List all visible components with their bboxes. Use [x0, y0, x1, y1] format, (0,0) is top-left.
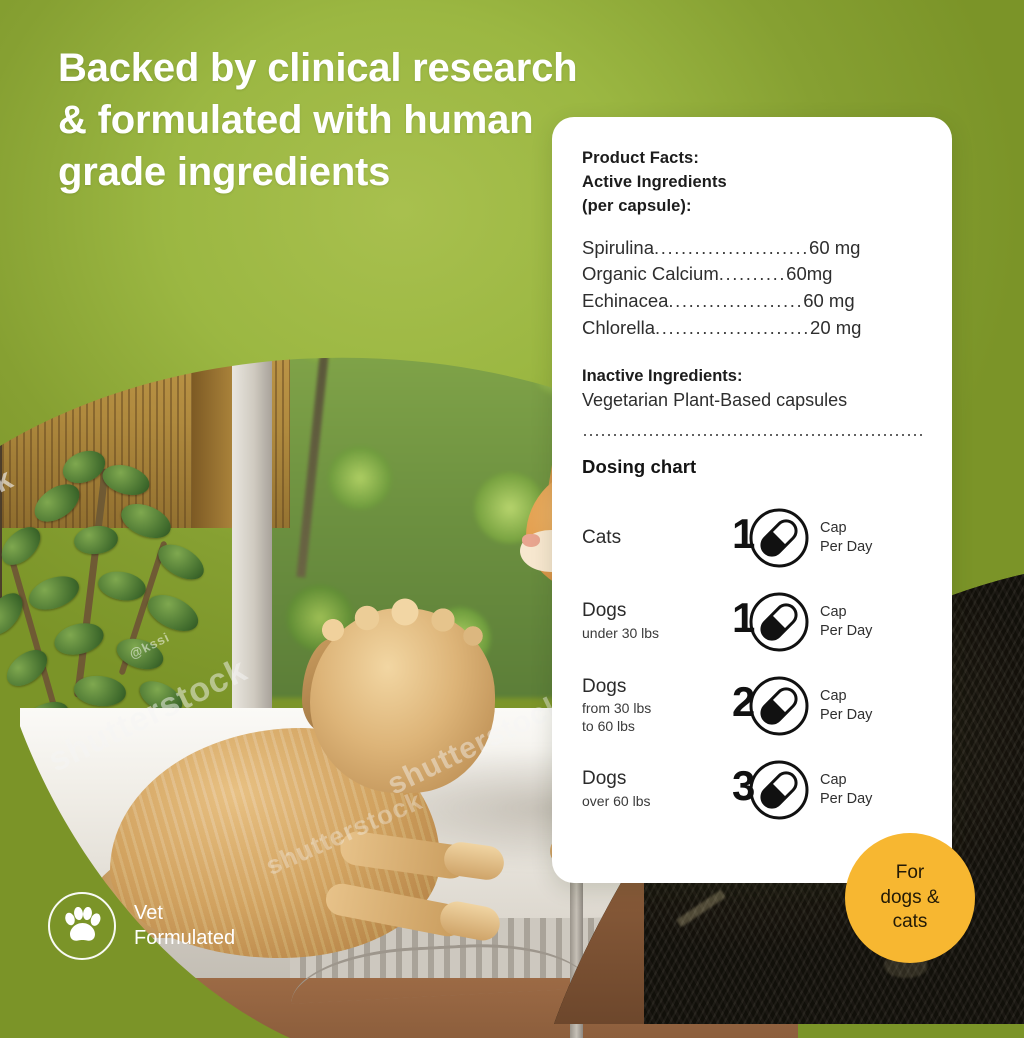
dosing-weight: under 30 lbs	[582, 625, 732, 643]
dose-capsule-icon: 3	[732, 758, 814, 822]
dosing-row: Dogs under 30 lbs 1 Cap Per Day	[582, 580, 924, 664]
dose-unit: Cap Per Day	[820, 603, 872, 641]
dosing-weight: from 30 lbs to 60 lbs	[582, 700, 732, 736]
ingredient-dots: ....................	[668, 288, 803, 315]
dosing-label: Cats	[582, 528, 732, 549]
dosing-label: Dogs under 30 lbs	[582, 601, 732, 643]
dog-head-fluff	[315, 594, 490, 664]
ingredient-row: Organic Calcium .......... 60mg	[582, 261, 924, 288]
product-facts-line-3: (per capsule):	[582, 195, 924, 219]
dose-capsule-icon: 1	[732, 590, 814, 654]
audience-line-3: cats	[880, 910, 939, 935]
inactive-ingredients: Inactive Ingredients: Vegetarian Plant-B…	[582, 367, 924, 412]
dosing-row: Cats 1 Cap Per Day	[582, 496, 924, 580]
dosing-animal: Cats	[582, 528, 732, 549]
ingredient-amount: 60 mg	[803, 288, 854, 315]
product-facts-card: Product Facts: Active Ingredients (per c…	[552, 117, 952, 883]
dose-unit-line-2: Per Day	[820, 790, 872, 809]
ingredient-row: Spirulina ....................... 60 mg	[582, 235, 924, 262]
headline-rest: & formulated with human grade ingredient…	[58, 98, 533, 194]
dose-unit-line-1: Cap	[820, 687, 872, 706]
capsule-in-circle-icon	[746, 674, 812, 738]
vet-text-line-2: Formulated	[134, 926, 235, 951]
capsule-in-circle-icon	[746, 590, 812, 654]
audience-badge-text: For dogs & cats	[880, 861, 939, 935]
paw-print-icon	[62, 907, 102, 945]
dose-count: 1	[732, 597, 754, 639]
vet-formulated-badge: Vet Formulated	[48, 892, 235, 960]
dosing-chart-rows: Cats 1 Cap Per Day	[582, 496, 924, 832]
dose-unit: Cap Per Day	[820, 519, 872, 557]
page-title: Backed by clinical research & formulated…	[58, 42, 578, 198]
ingredient-name: Spirulina	[582, 235, 654, 262]
dose-unit-line-1: Cap	[820, 771, 872, 790]
dose-unit-line-1: Cap	[820, 519, 872, 538]
ingredient-name: Chlorella	[582, 315, 655, 342]
audience-line-2: dogs &	[880, 886, 939, 911]
dose-unit-line-2: Per Day	[820, 622, 872, 641]
paw-icon-circle	[48, 892, 116, 960]
headline-bold: Backed by clinical research	[58, 46, 577, 90]
dose-capsule-icon: 1	[732, 506, 814, 570]
capsule-in-circle-icon	[746, 758, 812, 822]
ingredient-amount: 60mg	[786, 261, 832, 288]
dose-unit-line-1: Cap	[820, 603, 872, 622]
dosing-animal: Dogs	[582, 601, 732, 622]
capsule-in-circle-icon	[746, 506, 812, 570]
inactive-ingredients-body: Vegetarian Plant-Based capsules	[582, 388, 924, 412]
ingredient-dots: .......................	[654, 235, 809, 262]
dosing-animal: Dogs	[582, 769, 732, 790]
dose-capsule-icon: 2	[732, 674, 814, 738]
ingredient-row: Echinacea .................... 60 mg	[582, 288, 924, 315]
ingredient-dots: .......................	[655, 315, 810, 342]
audience-line-1: For	[880, 861, 939, 886]
dose-unit-line-2: Per Day	[820, 538, 872, 557]
ingredient-name: Organic Calcium	[582, 261, 719, 288]
cat-nose	[522, 534, 540, 547]
dosing-label: Dogs from 30 lbs to 60 lbs	[582, 677, 732, 737]
product-facts-line-2: Active Ingredients	[582, 171, 924, 195]
ingredient-amount: 60 mg	[809, 235, 860, 262]
vet-text-line-1: Vet	[134, 901, 235, 926]
dosing-row: Dogs over 60 lbs 3 Cap Per Day	[582, 748, 924, 832]
dose-unit-line-2: Per Day	[820, 706, 872, 725]
audience-badge: For dogs & cats	[845, 833, 975, 963]
dosing-row: Dogs from 30 lbs to 60 lbs 2	[582, 664, 924, 748]
dose-unit: Cap Per Day	[820, 687, 872, 725]
dosing-weight-line-1: from 30 lbs	[582, 700, 732, 718]
ingredient-name: Echinacea	[582, 288, 668, 315]
ingredient-dots: ..........	[719, 261, 786, 288]
dose-unit: Cap Per Day	[820, 771, 872, 809]
vet-formulated-text: Vet Formulated	[134, 901, 235, 951]
dosing-weight-line-2: to 60 lbs	[582, 718, 732, 736]
dose-count: 2	[732, 681, 754, 723]
product-facts-heading: Product Facts: Active Ingredients (per c…	[582, 147, 924, 219]
dotted-divider	[582, 434, 924, 436]
product-facts-line-1: Product Facts:	[582, 147, 924, 171]
dose-count: 3	[732, 765, 754, 807]
ingredient-amount: 20 mg	[810, 315, 861, 342]
ingredient-row: Chlorella ....................... 20 mg	[582, 315, 924, 342]
dosing-weight: over 60 lbs	[582, 793, 732, 811]
dosing-chart-title: Dosing chart	[582, 456, 924, 478]
dose-count: 1	[732, 513, 754, 555]
inactive-ingredients-heading: Inactive Ingredients:	[582, 367, 924, 386]
active-ingredients-list: Spirulina ....................... 60 mg …	[582, 235, 924, 342]
dog-paw-2	[437, 899, 502, 944]
dosing-animal: Dogs	[582, 677, 732, 698]
dosing-label: Dogs over 60 lbs	[582, 769, 732, 811]
